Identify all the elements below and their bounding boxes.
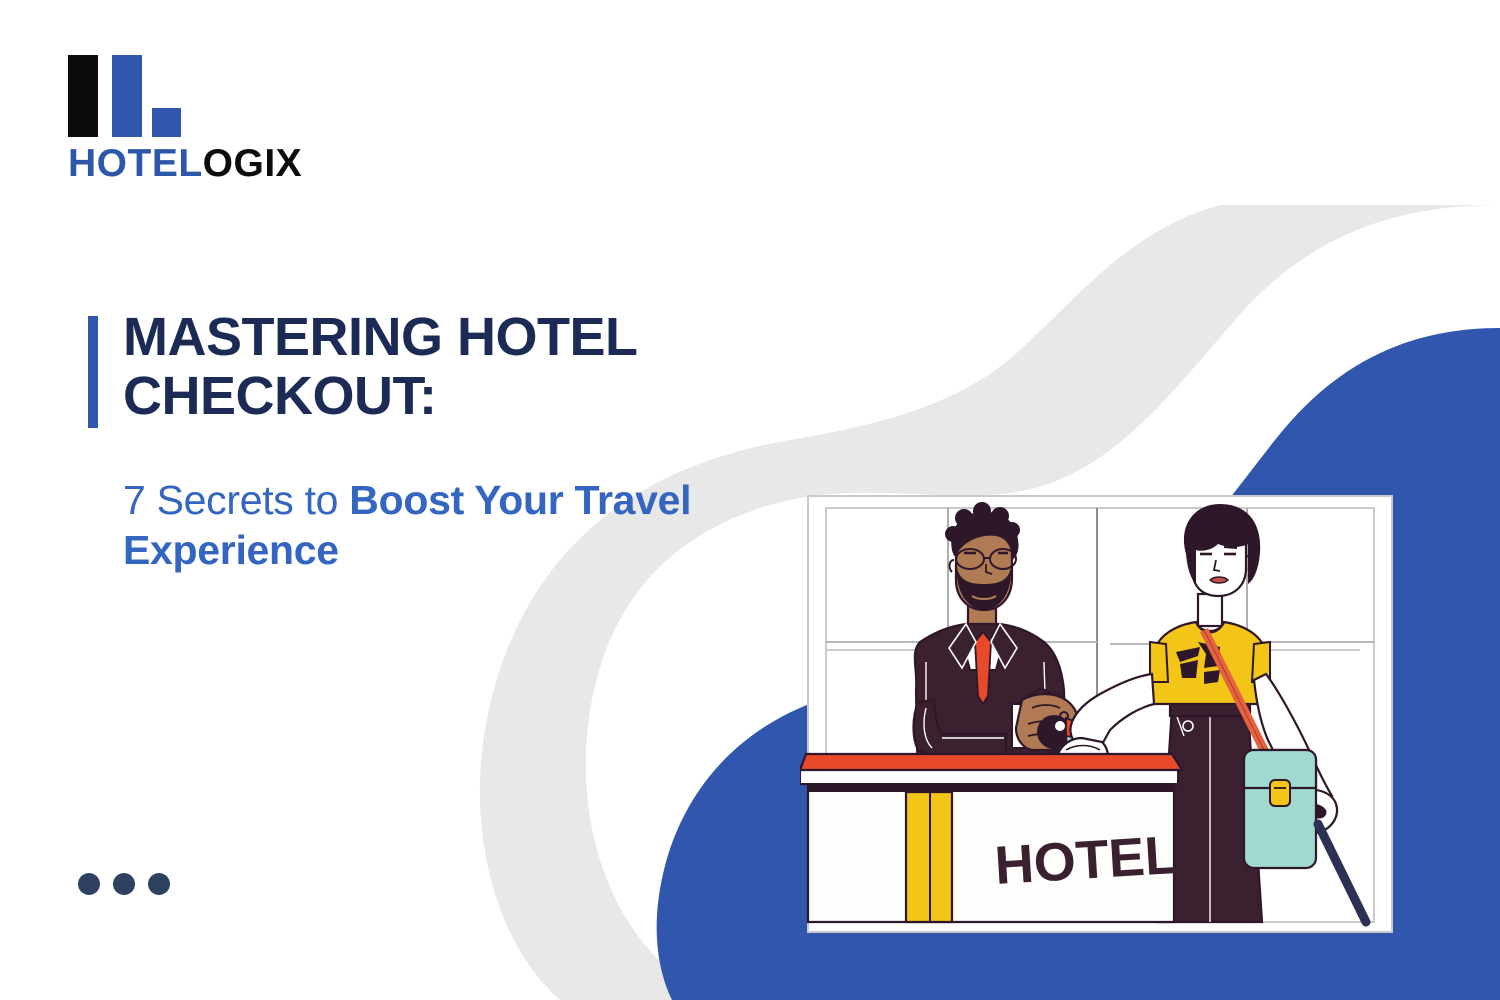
poster-canvas: HOTELOGIX MASTERING HOTEL CHECKOUT: 7 Se… — [0, 0, 1500, 1000]
logo-word-secondary: OGIX — [203, 142, 303, 185]
logo-word-primary: HOTEL — [68, 142, 203, 185]
decorative-dots — [78, 873, 170, 895]
headline-block: MASTERING HOTEL CHECKOUT: 7 Secrets to B… — [88, 308, 708, 575]
logo-bar-black-icon — [68, 55, 98, 137]
logo-bar-blue-icon — [112, 55, 142, 137]
brand-logo[interactable]: HOTELOGIX — [68, 55, 302, 183]
logo-mark — [68, 55, 188, 137]
logo-wordmark: HOTELOGIX — [68, 144, 302, 183]
title-accent-bar — [88, 316, 98, 428]
page-title: MASTERING HOTEL CHECKOUT: — [123, 308, 708, 427]
desk-sign-label: HOTEL — [993, 825, 1179, 896]
dot-icon-2 — [113, 873, 135, 895]
dot-icon-1 — [78, 873, 100, 895]
dot-icon-3 — [148, 873, 170, 895]
logo-square-dot-icon — [152, 108, 181, 137]
page-subtitle-light: 7 Secrets to — [123, 477, 349, 523]
receptionist-tie — [975, 632, 991, 704]
crossbody-bag — [1244, 750, 1316, 868]
desk-top-surface — [800, 754, 1182, 770]
page-title-line-1: MASTERING HOTEL — [123, 308, 708, 367]
page-subtitle: 7 Secrets to Boost Your Travel Experienc… — [123, 475, 708, 575]
hotel-checkout-illustration: HOTEL — [800, 492, 1400, 937]
front-desk: HOTEL — [800, 754, 1182, 922]
page-title-line-2: CHECKOUT: — [123, 367, 708, 426]
